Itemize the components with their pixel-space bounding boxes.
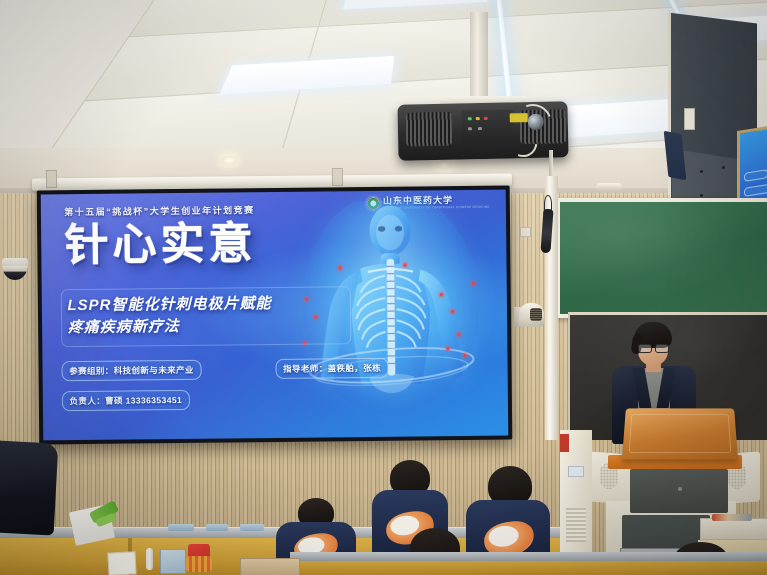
desk-blue-item — [168, 524, 194, 531]
rack-red-indicator — [560, 434, 569, 452]
subtitle-line-1: LSPR智能化针刺电极片赋能 — [67, 292, 346, 317]
projection-screen[interactable]: 第十五届“挑战杯”大学生创业年计划竞赛 山东中医药大学 SHANDONG UNI… — [37, 186, 513, 445]
audience-desk-row-back — [290, 552, 767, 575]
paper-sheet — [107, 551, 136, 575]
chip-advisors: 指导老师：盖秩舶，张栋 — [275, 358, 389, 379]
cardboard-box — [240, 558, 300, 575]
lectern-front-panel-upper — [630, 469, 728, 513]
lectern-open-lid[interactable] — [622, 408, 738, 459]
green-chalkboard — [556, 198, 767, 318]
competition-title-text: 第十五届“挑战杯”大学生创业年计划竞赛 — [64, 203, 255, 218]
acupoint-marker — [403, 264, 406, 267]
wall-speaker-unit — [514, 303, 544, 329]
desk-blue-item — [240, 524, 264, 531]
subtitle-line-2: 疼痛疾病新疗法 — [68, 314, 347, 339]
desk-blue-item — [206, 524, 228, 531]
draped-dark-coat — [0, 440, 58, 535]
slide-main-title: 针心实意 — [64, 221, 353, 268]
hanging-camera — [540, 195, 554, 253]
chip-category: 参赛组别：科技创新与未来产业 — [61, 360, 202, 381]
acupoint-marker — [472, 282, 475, 285]
chip-contact: 负责人：曹硕 13336353451 — [61, 390, 190, 411]
blue-folder — [160, 549, 186, 574]
ceiling-projector — [397, 101, 568, 161]
presentation-slide: 第十五届“挑战杯”大学生创业年计划竞赛 山东中医药大学 SHANDONG UNI… — [41, 190, 509, 441]
downlight — [221, 156, 237, 165]
wall-sensor-box — [520, 227, 531, 237]
rack-vent — [566, 508, 586, 542]
right-side-desk — [700, 518, 767, 540]
board-light — [596, 183, 622, 191]
lecture-hall-scene: 第十五届“挑战杯”大学生创业年计划竞赛 山东中医药大学 SHANDONG UNI… — [0, 0, 767, 575]
dome-security-camera — [2, 258, 30, 280]
rack-label — [568, 466, 584, 477]
panel-label-tag — [684, 108, 695, 130]
projector-mount-pole — [470, 12, 488, 104]
water-bottle — [146, 548, 153, 570]
slide-subtitle: LSPR智能化针刺电极片赋能 疼痛疾病新疗法 — [67, 292, 346, 338]
downlight — [436, 160, 452, 169]
presenter-glasses — [638, 344, 668, 351]
acupoint-marker — [451, 310, 454, 313]
red-container-lid — [186, 556, 212, 572]
right-desk-items — [712, 514, 752, 521]
